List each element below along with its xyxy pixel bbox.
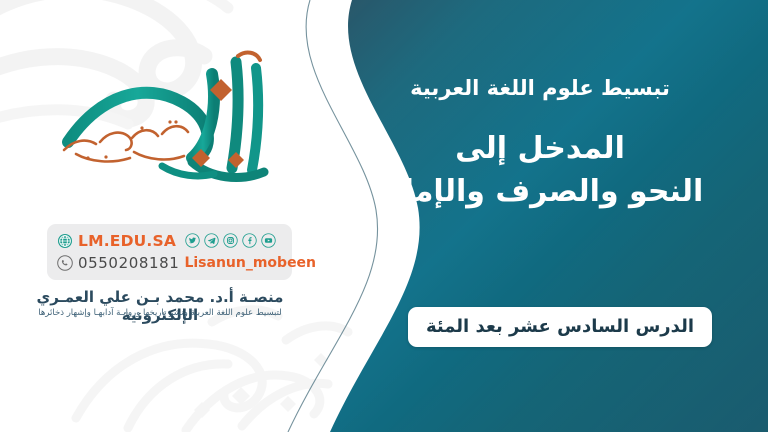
- presentation-slide: LM.EDU.SA: [0, 0, 768, 432]
- title-line-2: النحو والصرف والإملاء: [340, 171, 740, 214]
- website-url[interactable]: LM.EDU.SA: [78, 232, 176, 250]
- contact-row-website: LM.EDU.SA: [57, 231, 282, 250]
- brand-logo: [42, 46, 298, 202]
- contact-row-phone: 0550208181 Lisanun_mobeen: [57, 253, 282, 272]
- phone-number[interactable]: 0550208181: [78, 254, 179, 272]
- globe-icon: [57, 233, 73, 249]
- instagram-icon[interactable]: [223, 233, 238, 248]
- platform-name: منصـة أ.د. محمد بـن علي العمـري الإلكترو…: [0, 288, 320, 324]
- facebook-icon[interactable]: [242, 233, 257, 248]
- social-handle[interactable]: Lisanun_mobeen: [184, 255, 316, 271]
- lesson-number-badge: الدرس السادس عشر بعد المئة: [408, 307, 712, 347]
- platform-tagline: لتبسيط علوم اللغة العربية ونشر تاريخها و…: [0, 308, 320, 318]
- lisanun-mobeen-logo-icon: [42, 46, 298, 202]
- telegram-icon[interactable]: [204, 233, 219, 248]
- whatsapp-icon[interactable]: [57, 255, 73, 271]
- social-links: [185, 233, 276, 248]
- youtube-icon[interactable]: [261, 233, 276, 248]
- title-line-1: المدخل إلى: [340, 128, 740, 171]
- twitter-icon[interactable]: [185, 233, 200, 248]
- contact-info-bar: LM.EDU.SA: [47, 224, 292, 280]
- series-subtitle: تبسيط علوم اللغة العربية: [340, 76, 740, 100]
- slide-title: المدخل إلى النحو والصرف والإملاء: [340, 128, 740, 213]
